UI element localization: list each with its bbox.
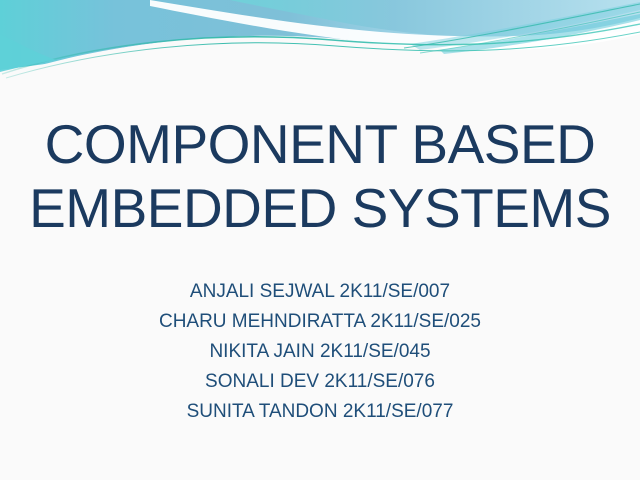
- wave-right-ribbons: [410, 2, 640, 54]
- author-line-4: SONALI DEV 2K11/SE/076: [0, 367, 640, 397]
- title-line-2: EMBEDDED SYSTEMS: [0, 176, 640, 240]
- wave-left-wedge: [0, 34, 56, 72]
- wave-white-swoosh: [0, 0, 640, 80]
- header-wave-decoration: [0, 0, 640, 80]
- author-list: ANJALI SEJWAL 2K11/SE/007 CHARU MEHNDIRA…: [0, 277, 640, 427]
- author-line-3: NIKITA JAIN 2K11/SE/045: [0, 337, 640, 367]
- author-line-2: CHARU MEHNDIRATTA 2K11/SE/025: [0, 307, 640, 337]
- wave-upper-lobe: [230, 0, 640, 39]
- author-line-5: SUNITA TANDON 2K11/SE/077: [0, 397, 640, 427]
- wave-base-band: [0, 0, 640, 70]
- wave-teal-strokes: [2, 4, 640, 78]
- presentation-title-slide: COMPONENT BASED EMBEDDED SYSTEMS ANJALI …: [0, 0, 640, 480]
- author-line-1: ANJALI SEJWAL 2K11/SE/007: [0, 277, 640, 307]
- title-line-1: COMPONENT BASED: [0, 112, 640, 176]
- page-title: COMPONENT BASED EMBEDDED SYSTEMS: [0, 112, 640, 240]
